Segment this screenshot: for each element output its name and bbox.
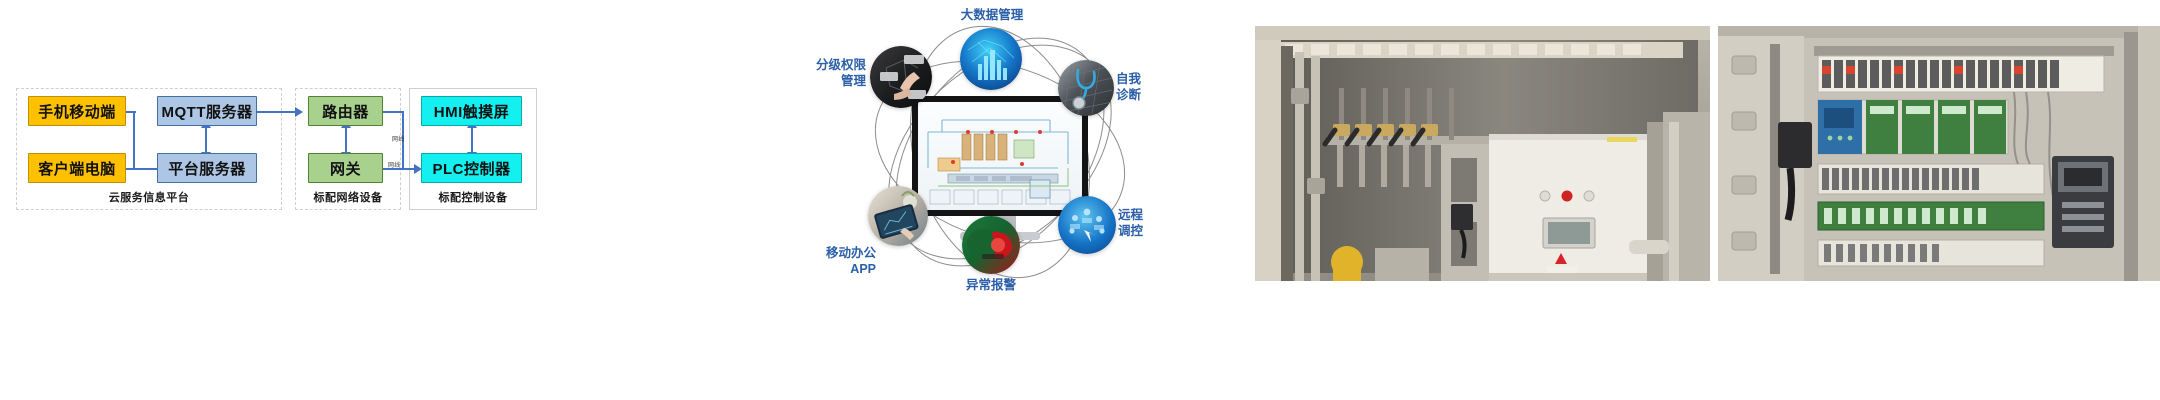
bubble-remote-control-icon bbox=[1058, 196, 1116, 254]
photo-cabinet-outdoor-image bbox=[1255, 26, 1710, 281]
orbit-label-alarm: 异常报警 bbox=[929, 278, 1053, 294]
orbit-label-self-diagnosis: 自我 诊断 bbox=[1116, 72, 1176, 103]
node-mobile-client-label: 手机移动端 bbox=[38, 101, 116, 122]
node-hmi-touch-screen-label: HMI触摸屏 bbox=[434, 101, 510, 122]
screenshot-canvas: 云服务信息平台 标配网络设备 标配控制设备 网线 bbox=[0, 0, 2160, 400]
node-client-pc-label: 客户端电脑 bbox=[38, 158, 116, 179]
orbit-label-permission-management: 分级权限 管理 bbox=[784, 58, 866, 89]
bubble-self-diagnosis-icon bbox=[1058, 60, 1114, 116]
link-platform-clients-vertical bbox=[133, 111, 135, 169]
node-mqtt-server[interactable]: MQTT服务器 bbox=[157, 96, 257, 126]
orbit-label-permission-management-line1: 分级权限 bbox=[784, 58, 866, 74]
node-platform-server-label: 平台服务器 bbox=[168, 158, 246, 179]
node-plc-controller-label: PLC控制器 bbox=[432, 158, 510, 179]
orbit-label-mobile-office-app-line2: APP bbox=[798, 262, 876, 278]
node-plc-controller[interactable]: PLC控制器 bbox=[421, 153, 522, 183]
wire-label-top: 网线 bbox=[392, 134, 404, 143]
photo-cabinet-interior bbox=[1718, 26, 2160, 281]
link-mqtt-router-arrowhead-right bbox=[295, 107, 303, 117]
scada-schematic-icon bbox=[918, 102, 1082, 210]
bubble-permission-management-icon bbox=[870, 46, 932, 108]
group-control-devices-caption: 标配控制设备 bbox=[410, 189, 536, 205]
node-client-pc[interactable]: 客户端电脑 bbox=[28, 153, 126, 183]
bubble-big-data-icon bbox=[960, 28, 1022, 90]
orbit-label-mobile-office-app-line1: 移动办公 bbox=[798, 246, 876, 262]
link-router-hmi-horizontal bbox=[382, 111, 404, 113]
node-platform-server[interactable]: 平台服务器 bbox=[157, 153, 257, 183]
orbit-label-permission-management-line2: 管理 bbox=[784, 74, 866, 90]
orbit-label-big-data: 大数据管理 bbox=[930, 8, 1054, 24]
node-hmi-touch-screen[interactable]: HMI触摸屏 bbox=[421, 96, 522, 126]
orbit-label-remote-control-line2: 调控 bbox=[1118, 224, 1178, 240]
node-mqtt-server-label: MQTT服务器 bbox=[162, 101, 253, 122]
bubble-mobile-office-app-icon bbox=[868, 186, 928, 246]
node-gateway-label: 网关 bbox=[330, 158, 361, 179]
photo-cabinet-outdoor bbox=[1255, 26, 1710, 281]
node-gateway[interactable]: 网关 bbox=[308, 153, 383, 183]
link-mqtt-router bbox=[256, 111, 296, 113]
capabilities-orbit-graphic: 大数据管理 自我 诊断 bbox=[760, 0, 1240, 400]
orbit-label-remote-control: 远程 调控 bbox=[1118, 208, 1178, 239]
monitor-screen bbox=[918, 102, 1082, 210]
node-router-label: 路由器 bbox=[322, 101, 369, 122]
orbit-label-self-diagnosis-line1: 自我 bbox=[1116, 72, 1176, 88]
group-cloud-platform-caption: 云服务信息平台 bbox=[17, 189, 281, 205]
system-architecture-diagram: 云服务信息平台 标配网络设备 标配控制设备 网线 bbox=[0, 0, 760, 400]
node-router[interactable]: 路由器 bbox=[308, 96, 383, 126]
orbit-label-self-diagnosis-line2: 诊断 bbox=[1116, 88, 1176, 104]
orbit-label-mobile-office-app: 移动办公 APP bbox=[798, 246, 876, 277]
bubble-alarm-icon bbox=[962, 216, 1020, 274]
photo-cabinet-interior-image bbox=[1718, 26, 2160, 281]
monitor-frame bbox=[912, 96, 1088, 216]
wire-label-bottom: 网线 bbox=[388, 160, 400, 169]
group-network-devices-caption: 标配网络设备 bbox=[296, 189, 400, 205]
orbit-label-remote-control-line1: 远程 bbox=[1118, 208, 1178, 224]
node-mobile-client[interactable]: 手机移动端 bbox=[28, 96, 126, 126]
